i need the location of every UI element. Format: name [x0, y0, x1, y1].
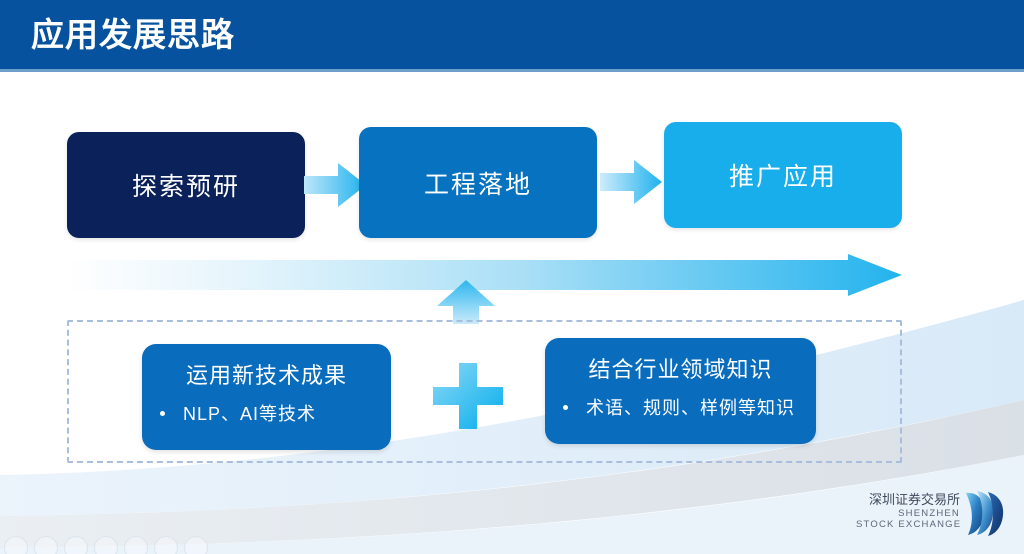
page-title: 应用发展思路 [31, 13, 235, 57]
toolbar-button-4[interactable] [94, 536, 118, 554]
up-arrow-icon [437, 280, 495, 324]
arrow-stage1-to-stage2-icon [304, 160, 366, 210]
capability-card-technology-bullet: NLP、AI等技术 [183, 400, 316, 426]
capability-card-domain[interactable]: 结合行业领域知识 术语、规则、样例等知识 [545, 338, 816, 444]
bullet-dot-icon [563, 405, 568, 410]
plus-sign-icon [433, 363, 503, 429]
capability-card-domain-bullet: 术语、规则、样例等知识 [586, 394, 795, 420]
stage-box-exploration[interactable]: 探索预研 [67, 132, 305, 238]
logo-chinese-name: 深圳证券交易所 [856, 492, 960, 508]
toolbar-button-5[interactable] [124, 536, 148, 554]
toolbar-button-7[interactable] [184, 536, 208, 554]
arrow-stage2-to-stage3-icon [600, 157, 662, 207]
toolbar-button-6[interactable] [154, 536, 178, 554]
toolbar-button-3[interactable] [64, 536, 88, 554]
stage-label-2: 工程落地 [424, 165, 532, 201]
toolbar-button-2[interactable] [34, 536, 58, 554]
capability-card-domain-title: 结合行业领域知识 [545, 352, 816, 384]
bottom-toolbar[interactable] [4, 536, 208, 554]
capability-card-technology-bullet-row: NLP、AI等技术 [142, 400, 391, 426]
stage-label-3: 推广应用 [729, 157, 837, 193]
header-underline [0, 69, 1024, 72]
bullet-dot-icon [160, 411, 165, 416]
stage-box-engineering[interactable]: 工程落地 [359, 127, 597, 238]
logo-english-line2: STOCK EXCHANGE [856, 519, 960, 530]
slide-canvas: 应用发展思路 探索预研 工程落地 推广应用 [0, 0, 1024, 554]
shenzhen-stock-exchange-mark-icon [964, 490, 1004, 536]
corporate-logo: 深圳证券交易所 SHENZHEN STOCK EXCHANGE [856, 492, 1008, 540]
logo-english-line1: SHENZHEN [856, 508, 960, 519]
logo-text-block: 深圳证券交易所 SHENZHEN STOCK EXCHANGE [856, 492, 960, 530]
stage-box-promotion[interactable]: 推广应用 [664, 122, 902, 228]
capability-card-technology[interactable]: 运用新技术成果 NLP、AI等技术 [142, 344, 391, 450]
capability-card-domain-bullet-row: 术语、规则、样例等知识 [545, 394, 816, 420]
stage-label-1: 探索预研 [132, 167, 240, 203]
toolbar-button-1[interactable] [4, 536, 28, 554]
capability-card-technology-title: 运用新技术成果 [142, 358, 391, 390]
